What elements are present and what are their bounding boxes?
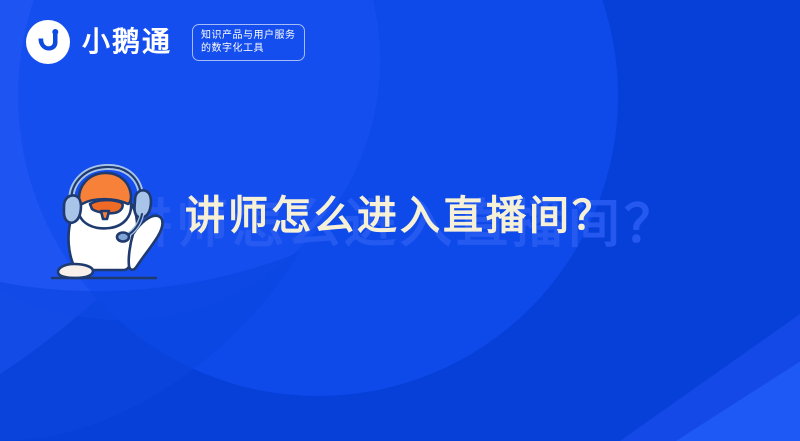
headset-ear-cup-left — [64, 195, 81, 222]
mascot-foot — [58, 264, 93, 278]
logo-lockup[interactable]: 小鹅通 知识产品与用户服务 的数字化工具 — [26, 20, 305, 64]
tagline-line-1: 知识产品与用户服务 — [201, 29, 296, 42]
goose-mascot — [38, 148, 188, 283]
mascot-beak — [101, 211, 109, 219]
headset-mic-tip — [117, 233, 129, 242]
goose-logo-icon — [26, 20, 70, 64]
tagline-box: 知识产品与用户服务 的数字化工具 — [192, 24, 305, 61]
goose-mascot-icon — [38, 148, 188, 283]
promo-banner: 讲师怎么进入直播间？ 讲师怎么进入直播间？ 小鹅通 知识产品与用户服务 的数字化… — [0, 0, 800, 441]
tagline-line-2: 的数字化工具 — [201, 42, 296, 55]
brand-name: 小鹅通 — [82, 28, 172, 56]
